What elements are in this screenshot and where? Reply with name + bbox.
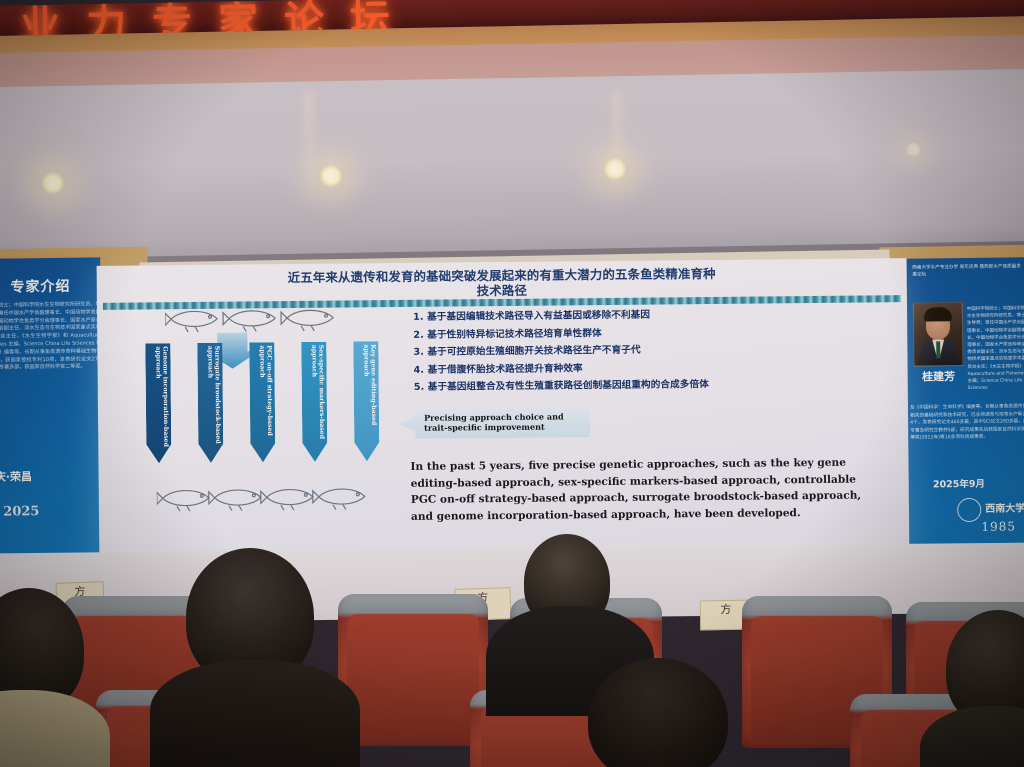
process-arrow-3: PGC on-off strategy-based approach xyxy=(249,342,275,462)
ceiling-light xyxy=(602,158,628,180)
expert-intro-banner-left: 专家介绍 中国科学院院士；中国科学院水生生物研究所研究员、博士生导师，曾任中国水… xyxy=(0,257,104,560)
process-arrow-3-label: PGC on-off strategy-based approach xyxy=(249,342,275,462)
banner-left-footer: 庆·荣昌 xyxy=(0,467,99,484)
list-item: 基于基因组整合及有性生殖重获路径创制基因组重构的合成多倍体 xyxy=(428,375,886,397)
process-arrow-4: Sex-specific markers-based approach xyxy=(301,342,327,462)
callout-box: Precising approach choice and trait-spec… xyxy=(398,407,590,439)
ceiling-light xyxy=(905,142,922,157)
slide-paragraph: In the past 5 years, five precise geneti… xyxy=(410,454,881,525)
banner-right-header: 西南大学水产专业办学 周年庆典 暨西部水产高质量发展论坛 xyxy=(912,263,1024,278)
event-date: 2025年9月 xyxy=(933,476,985,491)
process-arrow-2: Surrogate broodstock-based approach xyxy=(197,343,223,463)
process-arrow-1-label: Genome incorporation-based approach xyxy=(145,343,171,463)
portrait-hair xyxy=(924,307,952,321)
process-arrow-1: Genome incorporation-based approach xyxy=(145,343,171,463)
slide-bullet-list: 基于基因编辑技术路径导入有益基因或移除不利基因 基于性别特异标记技术路径培育单性… xyxy=(405,304,886,397)
banner-left-year: 2025 xyxy=(3,504,39,519)
callout-text: Precising approach choice and trait-spec… xyxy=(424,411,584,433)
founding-year: 1985 xyxy=(981,519,1016,533)
speaker-banner-right: 西南大学水产专业办学 周年庆典 暨西部水产高质量发展论坛 桂建芳 中国科学院院士… xyxy=(904,257,1024,560)
speaker-portrait xyxy=(913,302,964,367)
portrait-tie xyxy=(936,341,940,358)
process-arrow-5: Key gene editing-based approach xyxy=(353,341,379,461)
fish-illustration-top xyxy=(165,304,345,336)
university-name: 西南大学 xyxy=(985,499,1024,514)
process-arrow-2-label: Surrogate broodstock-based approach xyxy=(197,343,223,463)
expert-intro-body: 中国科学院院士；中国科学院水生生物研究所研究员、博士生导师，曾任中国水产学会副理… xyxy=(0,301,102,373)
light-beam xyxy=(612,92,622,212)
audience-head xyxy=(588,658,728,767)
light-beam xyxy=(304,92,314,212)
audience-shoulders xyxy=(150,660,360,767)
process-arrow-5-label: Key gene editing-based approach xyxy=(353,341,379,461)
speaker-name: 桂建芳 xyxy=(912,368,966,385)
speaker-bio-upper: 中国科学院院士；中国科学院水生生物研究所研究员、博士生导师；曾任中国水产学会副理… xyxy=(967,305,1024,392)
ceiling-light xyxy=(318,165,344,187)
fish-illustration-bottom xyxy=(157,481,427,518)
projection-screen: 近五年来从遗传和发育的基础突破发展起来的有重大潜力的五条鱼类精准育种 技术路径 … xyxy=(97,258,910,566)
university-logo-icon xyxy=(957,498,981,522)
process-arrow-4-label: Sex-specific markers-based approach xyxy=(301,342,327,462)
photo-of-conference-room: 业力专家论坛 专家介绍 中国科学院院士；中国科学院水生生物研究所研究员、博士生导… xyxy=(0,0,1024,767)
ceiling-light xyxy=(40,172,66,194)
speaker-bio-lower: 及《中国科学：生命科学》编委等。长期从事鱼类遗传育种相关的基础研究和技术研究，已… xyxy=(910,403,1024,442)
auditorium-seat xyxy=(338,594,488,746)
expert-intro-title: 专家介绍 xyxy=(10,276,70,297)
